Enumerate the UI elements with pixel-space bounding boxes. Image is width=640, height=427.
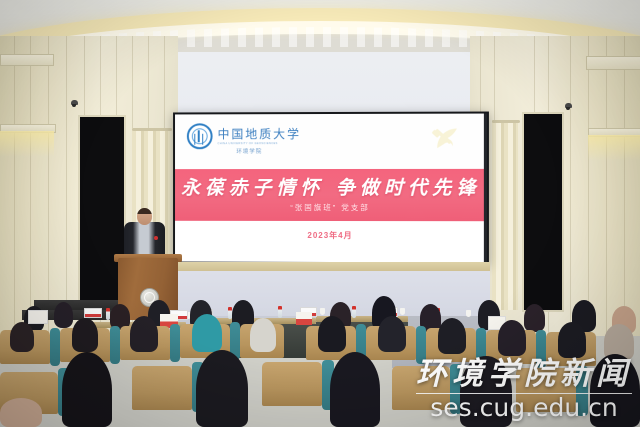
audience-member <box>524 304 545 332</box>
auditorium-seat-armrest <box>536 330 546 368</box>
auditorium-photo: 中国地质大学 CHINA UNIVERSITY OF GEOSCIENCES 环… <box>0 0 640 427</box>
audience-member <box>62 352 112 427</box>
audience-member <box>558 322 586 358</box>
right-wall-upper-shelf <box>586 56 640 70</box>
name-card <box>84 308 102 318</box>
auditorium-seat <box>262 362 322 406</box>
wall-slat <box>30 36 31 336</box>
party-hammer-sickle-icon <box>430 122 464 156</box>
audience-member <box>378 316 406 352</box>
right-curtain-panel <box>492 120 518 310</box>
paper-cup <box>400 308 405 315</box>
wall-slat <box>14 36 15 336</box>
slide-subtitle: “张国旗班” 党支部 <box>175 202 487 213</box>
audience-member <box>330 352 380 427</box>
left-curtain-rod <box>132 128 172 131</box>
right-curtain-rod <box>492 120 520 123</box>
wall-slat <box>66 36 67 336</box>
speaker-lapel-badge <box>154 236 158 240</box>
audience-member <box>196 350 248 427</box>
wall-slat <box>48 36 49 336</box>
audience-member <box>250 318 276 352</box>
right-wall-uplight-glow <box>588 135 640 161</box>
handout-paper <box>28 310 48 324</box>
auditorium-seat-armrest <box>170 324 180 362</box>
wall-slat <box>588 36 589 336</box>
auditorium-seat-armrest <box>416 326 426 364</box>
auditorium-seat-armrest <box>50 328 60 366</box>
audience-member <box>54 302 73 328</box>
university-name-en: CHINA UNIVERSITY OF GEOSCIENCES <box>218 142 302 145</box>
right-acoustic-panel <box>522 112 564 312</box>
audience-member <box>590 354 640 427</box>
handout-paper <box>296 312 312 325</box>
water-bottle <box>278 306 282 318</box>
paper-cup <box>320 308 325 315</box>
screen-right-bezel <box>484 114 487 263</box>
slide-title: 永葆赤子情怀 争做时代先锋 <box>175 173 487 200</box>
security-camera-icon <box>565 103 572 108</box>
slide-header-area: 中国地质大学 CHINA UNIVERSITY OF GEOSCIENCES 环… <box>175 114 487 170</box>
paper-cup <box>466 310 471 317</box>
audience-member <box>438 318 466 354</box>
slide-date: 2023年4月 <box>175 230 487 242</box>
left-wall-upper-shelf <box>0 54 54 66</box>
audience-member <box>0 398 42 427</box>
wall-slat <box>570 36 571 336</box>
audience-member <box>318 316 346 352</box>
auditorium-seat-armrest <box>576 366 588 416</box>
audience-member <box>498 320 526 356</box>
auditorium-seat <box>516 368 576 412</box>
slide-title-band: 永葆赤子情怀 争做时代先锋 “张国旗班” 党支部 <box>175 169 487 221</box>
university-seal-icon <box>187 123 213 149</box>
security-camera-icon <box>71 100 78 105</box>
audience-member <box>130 316 158 352</box>
college-name: 环境学院 <box>236 147 262 155</box>
water-bottle <box>352 306 356 318</box>
audience-member <box>10 322 34 352</box>
audience-member <box>72 318 98 352</box>
left-wall-uplight-glow <box>0 131 54 157</box>
wall-slat <box>624 36 625 336</box>
university-name: 中国地质大学 <box>218 128 302 140</box>
audience-member <box>192 314 222 352</box>
auditorium-seat-armrest <box>110 326 120 364</box>
stage-trim-band <box>150 262 490 271</box>
auditorium-seat <box>392 366 450 410</box>
wall-slat <box>606 36 607 336</box>
auditorium-seat <box>132 366 192 410</box>
projection-screen[interactable]: 中国地质大学 CHINA UNIVERSITY OF GEOSCIENCES 环… <box>173 112 489 265</box>
speaker-head <box>137 208 152 225</box>
audience-member <box>460 356 512 427</box>
university-logo: 中国地质大学 CHINA UNIVERSITY OF GEOSCIENCES <box>187 123 301 149</box>
